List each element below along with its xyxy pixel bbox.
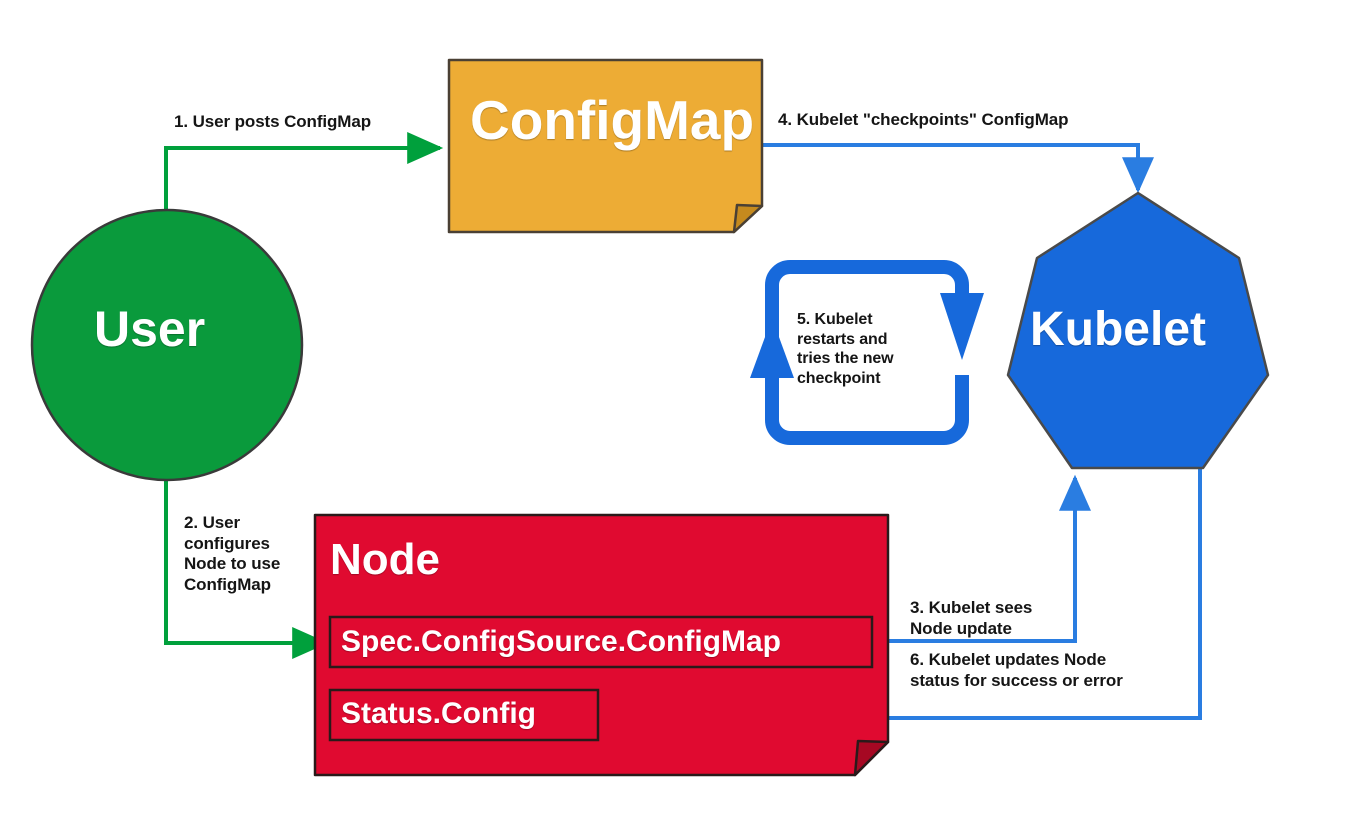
shape-label-user: User bbox=[94, 300, 205, 358]
shape-label-kubelet: Kubelet bbox=[1030, 302, 1206, 357]
step-label-4: 4. Kubelet "checkpoints" ConfigMap bbox=[778, 110, 1068, 131]
step-label-2: 2. User configures Node to use ConfigMap bbox=[184, 513, 280, 596]
step-label-6: 6. Kubelet updates Node status for succe… bbox=[910, 650, 1123, 691]
node-field-spec-label: Spec.ConfigSource.ConfigMap bbox=[341, 625, 781, 659]
shape-label-node: Node bbox=[330, 535, 440, 585]
diagram-canvas: User ConfigMap Kubelet Node Spec.ConfigS… bbox=[0, 0, 1360, 818]
step-label-3: 3. Kubelet sees Node update bbox=[910, 598, 1032, 639]
step-label-1: 1. User posts ConfigMap bbox=[174, 112, 371, 133]
step-label-5: 5. Kubelet restarts and tries the new ch… bbox=[797, 310, 894, 388]
node-field-status-label: Status.Config bbox=[341, 697, 536, 731]
shape-label-configmap: ConfigMap bbox=[470, 88, 754, 152]
